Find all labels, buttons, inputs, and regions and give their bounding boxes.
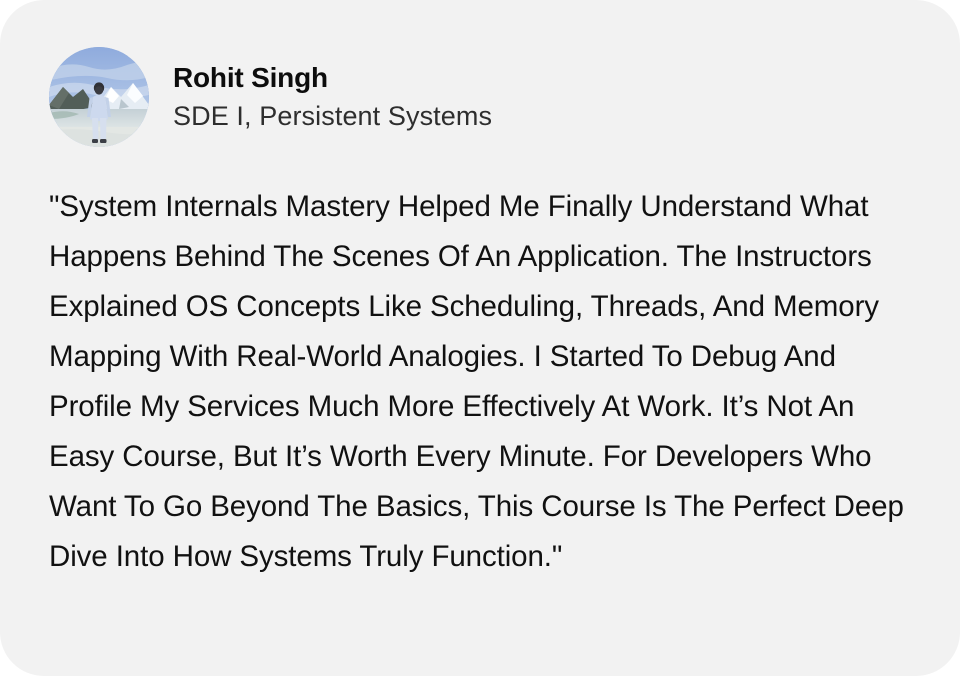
author-role: SDE I, Persistent Systems <box>173 98 492 134</box>
testimonial-quote-text: "System Internals Mastery Helped Me Fina… <box>49 182 921 582</box>
author-name: Rohit Singh <box>173 60 492 96</box>
testimonial-card: Rohit Singh SDE I, Persistent Systems "S… <box>0 0 960 676</box>
avatar <box>49 47 149 147</box>
author-header: Rohit Singh SDE I, Persistent Systems <box>49 47 492 147</box>
author-identity: Rohit Singh SDE I, Persistent Systems <box>173 60 492 134</box>
avatar-photo-icon <box>49 47 149 147</box>
